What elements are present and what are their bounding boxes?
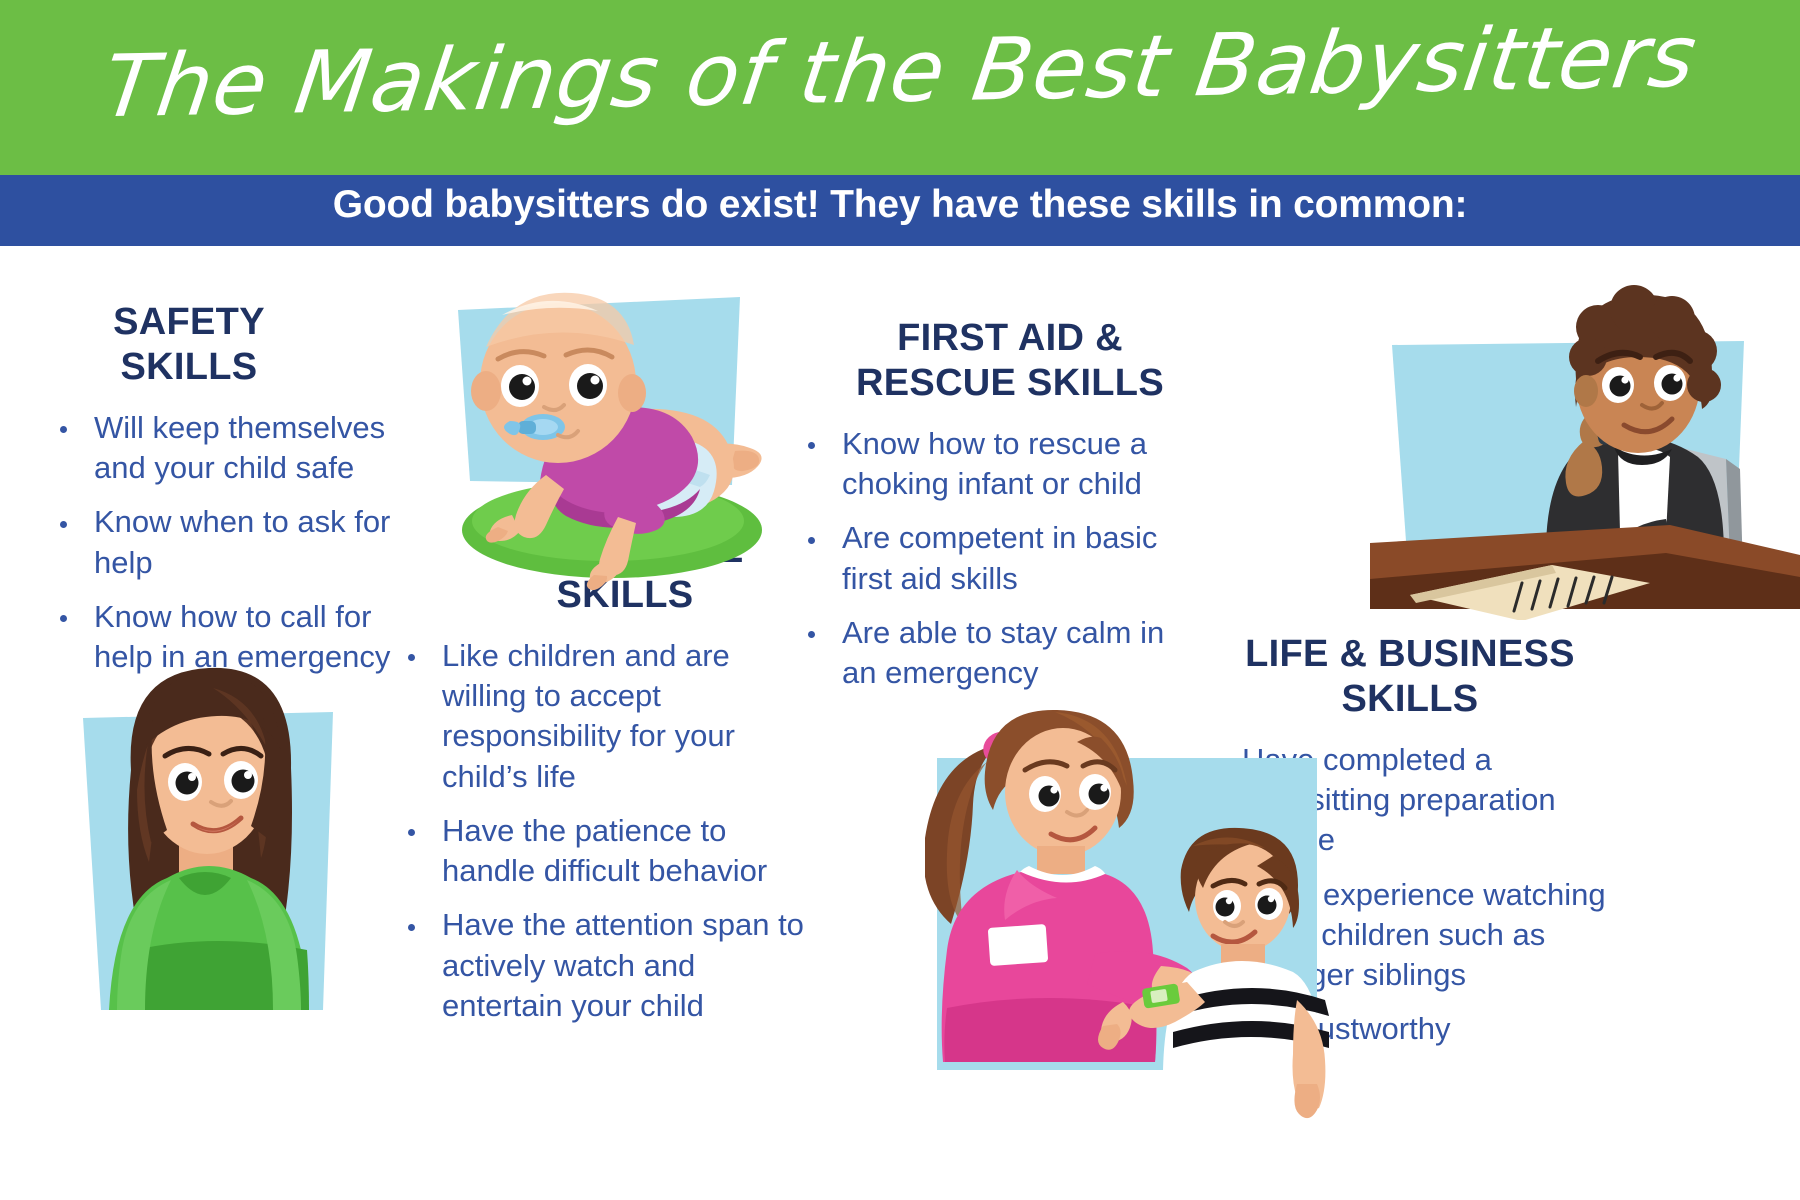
- bullet-dot-icon: [408, 924, 415, 931]
- list-item: Will keep themselves and your child safe: [52, 408, 422, 489]
- heading-line-1: SAFETY: [44, 300, 334, 345]
- heading-line-2: RESCUE SKILLS: [820, 361, 1200, 406]
- list-item-text: Have the patience to handle difficult be…: [442, 813, 767, 888]
- illustration-boy-on-phone: [1370, 275, 1800, 620]
- list-item: Like children and are willing to accept …: [400, 636, 808, 797]
- list-item: Have the attention span to actively watc…: [400, 905, 808, 1026]
- illustration-bandaging-scene: [925, 700, 1345, 1120]
- list-item-text: Are competent in basic first aid skills: [842, 520, 1157, 595]
- bullet-list-first-aid: Know how to rescue a choking infant or c…: [800, 424, 1200, 694]
- bullet-dot-icon: [60, 426, 67, 433]
- bullet-dot-icon: [408, 654, 415, 661]
- bullet-dot-icon: [408, 829, 415, 836]
- section-heading-safety: SAFETY SKILLS: [44, 300, 334, 390]
- bullet-dot-icon: [808, 631, 815, 638]
- bullet-dot-icon: [808, 537, 815, 544]
- illustration-teen-girl: [75, 630, 345, 1010]
- list-item-text: Like children and are willing to accept …: [442, 638, 735, 794]
- section-heading-first-aid: FIRST AID & RESCUE SKILLS: [820, 316, 1200, 406]
- section-first-aid-skills: FIRST AID & RESCUE SKILLS Know how to re…: [800, 316, 1200, 707]
- illustration-crawling-baby: [440, 275, 770, 595]
- bullet-dot-icon: [60, 615, 67, 622]
- heading-line-1: FIRST AID &: [820, 316, 1200, 361]
- bullet-list-child-care: Like children and are willing to accept …: [400, 636, 808, 1027]
- list-item: Know when to ask for help: [52, 502, 422, 583]
- list-item-text: Have the attention span to actively watc…: [442, 907, 804, 1023]
- list-item: Are competent in basic first aid skills: [800, 518, 1200, 599]
- heading-line-2: SKILLS: [44, 345, 334, 390]
- bullet-dot-icon: [60, 521, 67, 528]
- bullet-dot-icon: [808, 442, 815, 449]
- page-subtitle: Good babysitters do exist! They have the…: [0, 183, 1800, 227]
- list-item-text: Are able to stay calm in an emergency: [842, 615, 1164, 690]
- section-child-care-skills: CHILD CARE SKILLS Like children and are …: [400, 528, 808, 1040]
- list-item-text: Will keep themselves and your child safe: [94, 410, 385, 485]
- heading-line-1: LIFE & BUSINESS: [1210, 632, 1610, 677]
- list-item: Are able to stay calm in an emergency: [800, 613, 1200, 694]
- list-item-text: Know when to ask for help: [94, 504, 390, 579]
- list-item-text: Know how to rescue a choking infant or c…: [842, 426, 1147, 501]
- list-item: Have the patience to handle difficult be…: [400, 811, 808, 892]
- infographic-poster: The Makings of the Best Babysitters Good…: [0, 0, 1800, 1200]
- list-item: Know how to rescue a choking infant or c…: [800, 424, 1200, 505]
